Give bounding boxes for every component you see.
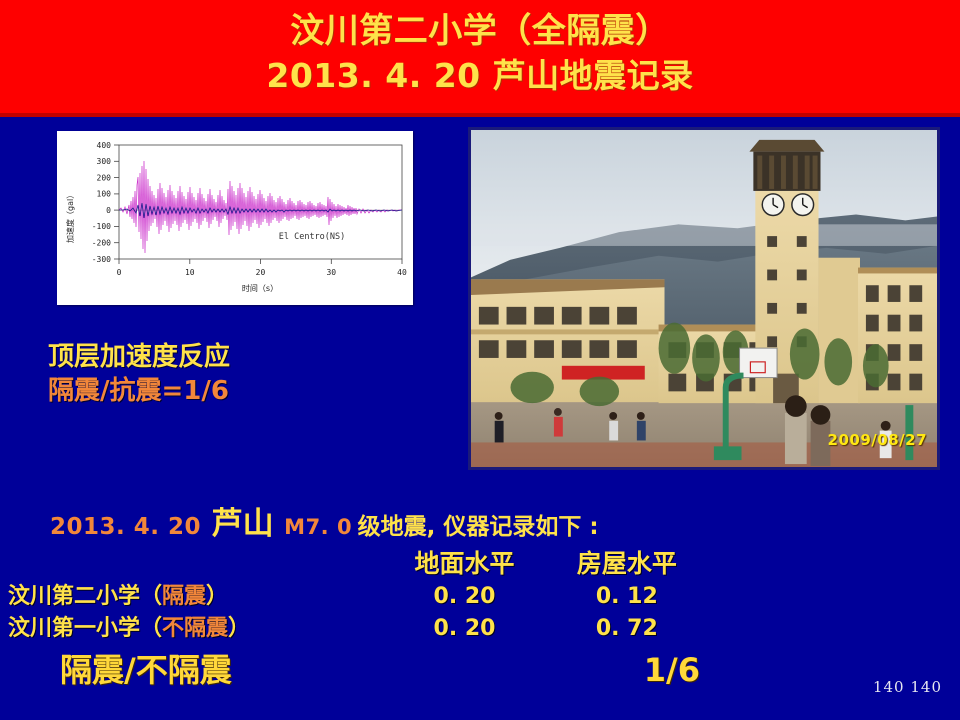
y-tick-400: 400 [97, 141, 112, 150]
slide-title-line-1: 汶川第二小学（全隔震） [0, 0, 960, 54]
page-number: 140 140 [873, 678, 942, 696]
slide-title-band: 汶川第二小学（全隔震） 2013. 4. 20 芦山地震记录 [0, 0, 960, 117]
row-label-suffix: ） [206, 584, 228, 609]
callout-text-block: 顶层加速度反应 隔震/抗震=1/6 [48, 340, 230, 408]
x-tick-10: 10 [185, 268, 195, 277]
quake-magnitude: M7. 0 [284, 515, 352, 539]
y-tick-neg300: -300 [92, 255, 111, 264]
conclusion-row: 隔震/不隔震 1/6 [60, 645, 700, 691]
slide-title-line-2: 2013. 4. 20 芦山地震记录 [0, 54, 960, 98]
row-label-prefix: 汶川第一小学（ [8, 616, 162, 641]
instrument-record-table: 地面水平 房屋水平 汶川第二小学（隔震） 0. 20 0. 12 汶川第一小学（… [8, 547, 708, 645]
quake-place: 芦山 [207, 506, 279, 542]
value-ground-school-2: 0. 20 [383, 581, 545, 613]
y-tick-0: 0 [106, 206, 111, 215]
quake-tail-text: 级地震, 仪器记录如下 : [358, 514, 599, 540]
row-label-suffix: ） [228, 616, 250, 641]
x-tick-30: 30 [326, 268, 336, 277]
row-label-school-2: 汶川第二小学（隔震） [8, 581, 383, 613]
value-building-school-1: 0. 72 [546, 613, 708, 645]
conclusion-label: 隔震/不隔震 [60, 645, 232, 691]
callout-line-top-acceleration: 顶层加速度反应 [48, 340, 230, 374]
quake-date: 2013. 4. 20 [50, 514, 201, 540]
table-header-row: 地面水平 房屋水平 [8, 547, 708, 581]
column-header-building: 房屋水平 [546, 547, 708, 581]
photo-building-left [471, 279, 665, 402]
row-label-isolation-tag: 隔震 [162, 584, 206, 609]
row-label-school-1: 汶川第一小学（不隔震） [8, 613, 383, 645]
chart-x-axis-label: 时间（s） [242, 283, 278, 293]
table-row: 汶川第二小学（隔震） 0. 20 0. 12 [8, 581, 708, 613]
photo-datestamp: 2009/08/27 [828, 431, 927, 449]
chart-annotation-el-centro: El Centro(NS) [279, 232, 346, 242]
y-tick-neg200: -200 [92, 239, 111, 248]
y-tick-neg100: -100 [92, 222, 111, 231]
photo-haze [471, 224, 937, 246]
y-tick-100: 100 [97, 190, 112, 199]
school-campus-photo: 2009/08/27 [468, 127, 940, 470]
table-row: 汶川第一小学（不隔震） 0. 20 0. 72 [8, 613, 708, 645]
x-tick-20: 20 [256, 268, 266, 277]
y-tick-300: 300 [97, 157, 112, 166]
x-tick-40: 40 [397, 268, 407, 277]
callout-line-ratio: 隔震/抗震=1/6 [48, 374, 230, 408]
chart-svg: 400 300 200 100 0 -100 -200 -300 加速度（gal… [57, 131, 413, 305]
x-tick-0: 0 [117, 268, 122, 277]
row-label-prefix: 汶川第二小学（ [8, 584, 162, 609]
column-header-ground: 地面水平 [383, 547, 545, 581]
y-tick-200: 200 [97, 173, 112, 182]
row-label-isolation-tag: 不隔震 [162, 616, 228, 641]
conclusion-value: 1/6 [644, 651, 700, 689]
earthquake-record-headline: 2013. 4. 20 芦山 M7. 0 级地震, 仪器记录如下 : [50, 498, 599, 543]
value-building-school-2: 0. 12 [546, 581, 708, 613]
photo-illustration [471, 130, 937, 467]
value-ground-school-1: 0. 20 [383, 613, 545, 645]
acceleration-time-history-chart: 400 300 200 100 0 -100 -200 -300 加速度（gal… [57, 131, 413, 305]
chart-y-axis-label: 加速度（gal） [65, 191, 75, 243]
